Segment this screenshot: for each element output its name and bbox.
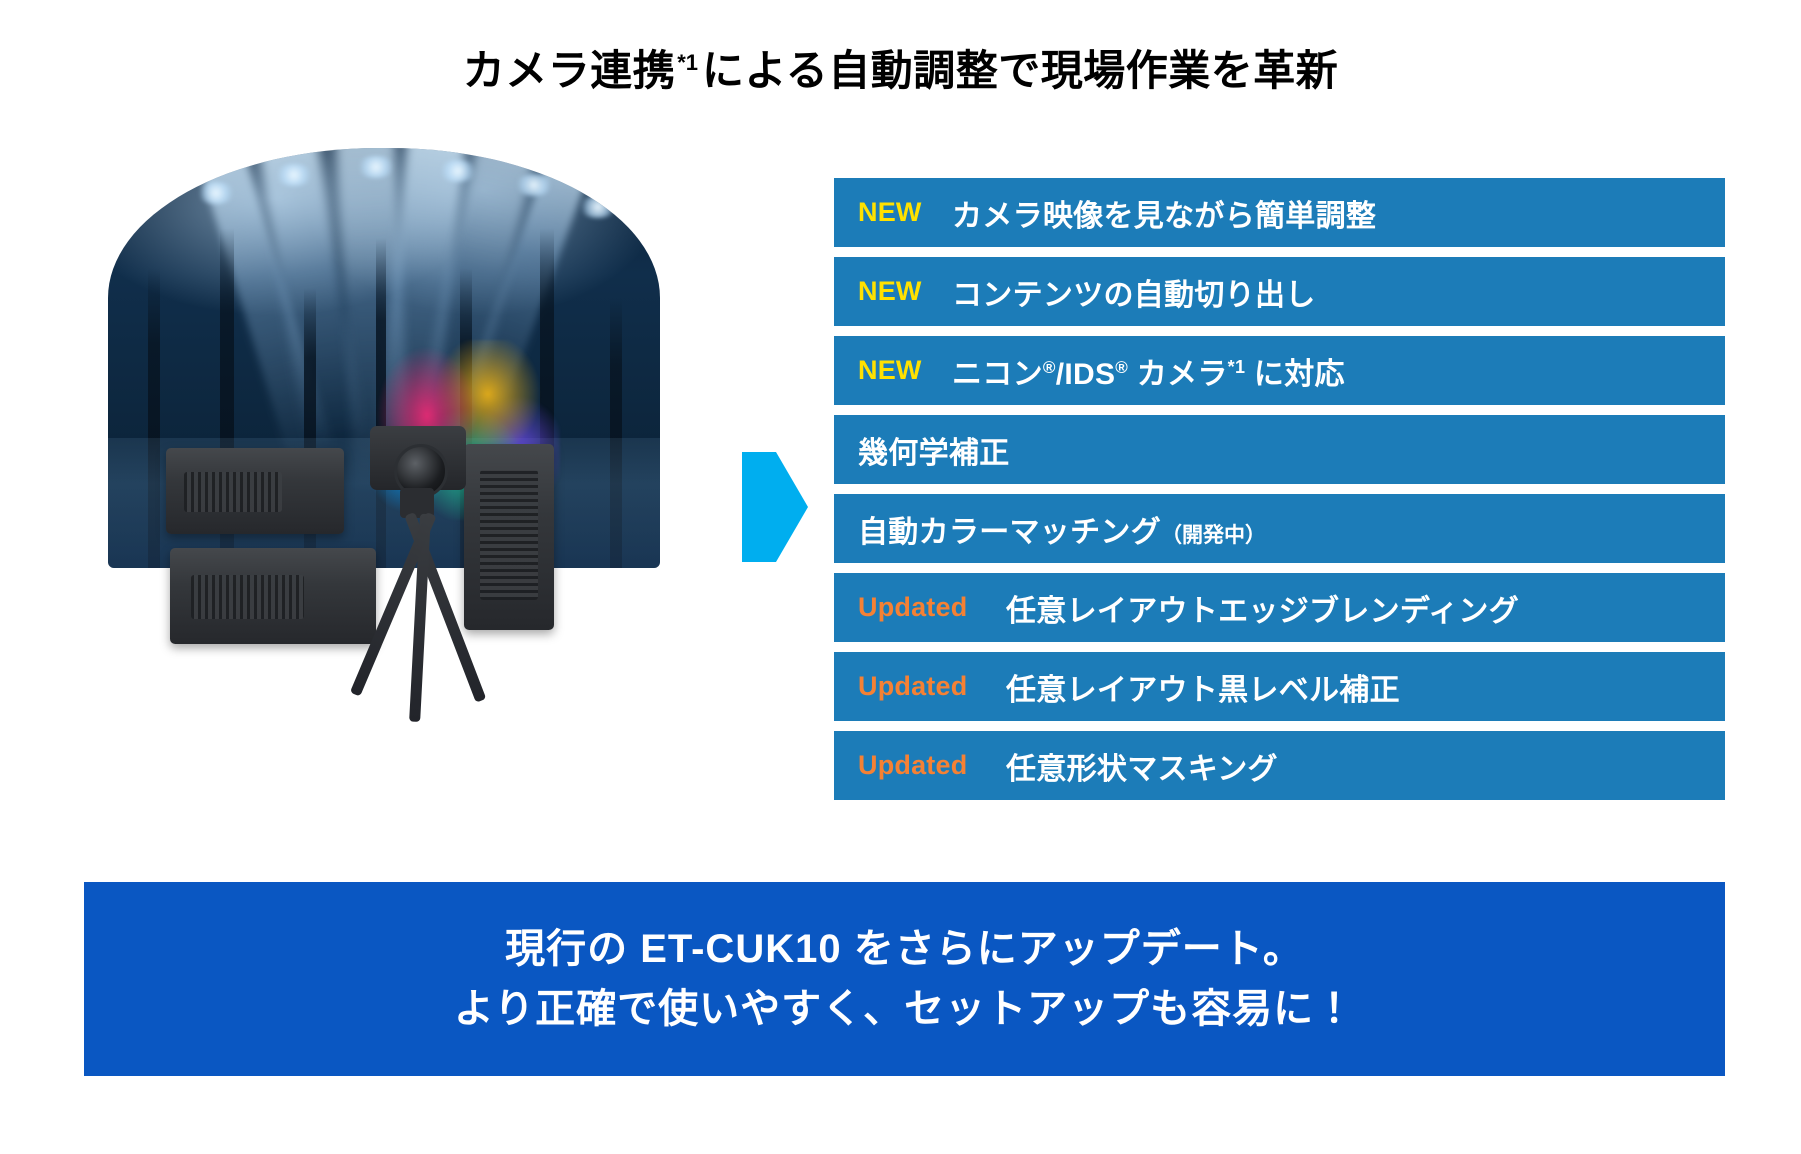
- spotlight: [578, 196, 618, 218]
- badge-new: NEW: [858, 355, 932, 386]
- feature-row-freeform-masking[interactable]: Updated 任意形状マスキング: [834, 731, 1725, 800]
- feature-label: カメラ映像を見ながら簡単調整: [952, 191, 1376, 235]
- product-visual: [108, 148, 660, 748]
- right-arrow-icon: [742, 452, 808, 562]
- badge-updated: Updated: [858, 592, 986, 623]
- footnote-mark: *1: [1228, 357, 1246, 377]
- feature-label-part: 自動カラーマッチング: [858, 516, 1161, 549]
- feature-row-geometric-correction[interactable]: 幾何学補正: [834, 415, 1725, 484]
- spotlight: [514, 174, 554, 196]
- badge-updated: Updated: [858, 671, 986, 702]
- summary-banner: 現行の ET-CUK10 をさらにアップデート。 より正確で使いやすく、セットア…: [84, 882, 1725, 1076]
- feature-list: NEW カメラ映像を見ながら簡単調整 NEW コンテンツの自動切り出し NEW …: [834, 178, 1725, 810]
- feature-label-note: （開発中）: [1161, 524, 1266, 547]
- registered-mark-icon: ®: [1043, 358, 1056, 377]
- feature-label: 自動カラーマッチング（開発中）: [858, 507, 1266, 551]
- spotlight: [196, 182, 236, 204]
- feature-label: 幾何学補正: [858, 428, 1010, 472]
- summary-banner-line-1: 現行の ET-CUK10 をさらにアップデート。: [505, 924, 1304, 974]
- badge-new: NEW: [858, 276, 932, 307]
- spotlight: [438, 160, 478, 182]
- feature-label: 任意レイアウト黒レベル補正: [1006, 665, 1400, 709]
- feature-label-part: カメラ: [1137, 358, 1228, 391]
- summary-banner-line-2: より正確で使いやすく、セットアップも容易に！: [454, 984, 1355, 1034]
- page-title-prefix: カメラ連携: [463, 47, 676, 94]
- feature-row-edge-blending[interactable]: Updated 任意レイアウトエッジブレンディング: [834, 573, 1725, 642]
- feature-label: コンテンツの自動切り出し: [952, 270, 1316, 314]
- feature-label-part: に対応: [1254, 358, 1345, 391]
- projector-vent: [191, 575, 304, 619]
- feature-row-camera-monitor[interactable]: NEW カメラ映像を見ながら簡単調整: [834, 178, 1725, 247]
- spotlight: [356, 156, 396, 178]
- badge-updated: Updated: [858, 750, 986, 781]
- feature-label-part: /IDS: [1056, 358, 1116, 391]
- spotlight: [274, 164, 314, 186]
- feature-row-auto-color-matching[interactable]: 自動カラーマッチング（開発中）: [834, 494, 1725, 563]
- feature-label-part: ニコン: [952, 358, 1043, 391]
- badge-new: NEW: [858, 197, 932, 228]
- projector-vent: [184, 472, 282, 512]
- page-title: カメラ連携*1による自動調整で現場作業を革新: [0, 46, 1801, 96]
- projector-vent: [480, 470, 538, 600]
- projector-unit: [170, 548, 376, 644]
- projector-unit: [166, 448, 344, 534]
- page-title-footnote: *1: [677, 50, 698, 75]
- projector-unit: [464, 444, 554, 630]
- page-title-suffix: による自動調整で現場作業を革新: [702, 47, 1338, 94]
- registered-mark-icon: ®: [1115, 358, 1128, 377]
- feature-row-auto-content-crop[interactable]: NEW コンテンツの自動切り出し: [834, 257, 1725, 326]
- feature-row-nikon-ids-camera[interactable]: NEW ニコン®/IDS® カメラ*1 に対応: [834, 336, 1725, 405]
- feature-label: 任意レイアウトエッジブレンディング: [1006, 586, 1519, 630]
- feature-label: ニコン®/IDS® カメラ*1 に対応: [952, 349, 1345, 393]
- feature-row-black-level-correction[interactable]: Updated 任意レイアウト黒レベル補正: [834, 652, 1725, 721]
- feature-label: 任意形状マスキング: [1006, 744, 1278, 788]
